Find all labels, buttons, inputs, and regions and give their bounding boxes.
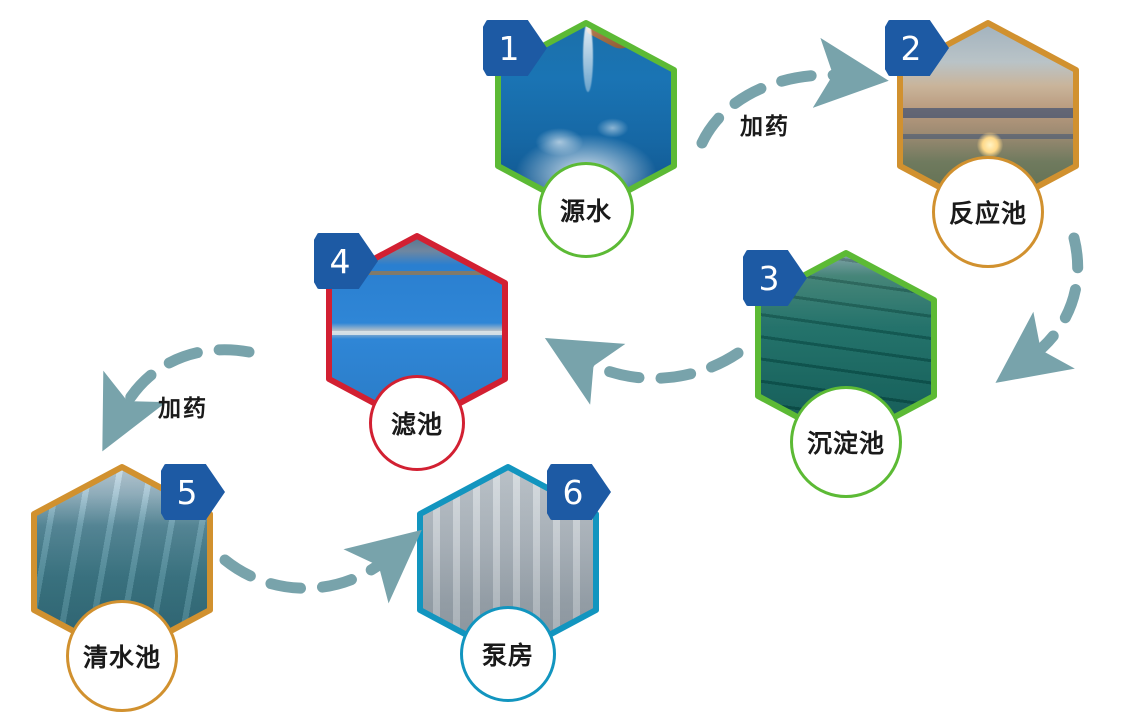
step-5-label-circle[interactable]: 清水池 <box>66 600 178 712</box>
step-2-label-circle[interactable]: 反应池 <box>932 156 1044 268</box>
step-3-number: 3 <box>743 250 795 306</box>
connector-5-to-6 <box>225 558 388 588</box>
step-3-label: 沉淀池 <box>807 424 885 460</box>
step-4-number: 4 <box>314 233 366 289</box>
connector-3-to-4 <box>583 353 738 378</box>
step-3-label-circle[interactable]: 沉淀池 <box>790 386 902 498</box>
connector-2-to-3 <box>1031 238 1078 357</box>
connector-label-dosing-2: 加药 <box>158 389 208 423</box>
step-1-number: 1 <box>483 20 535 76</box>
step-5-label: 清水池 <box>83 638 161 674</box>
step-6-label: 泵房 <box>482 636 534 672</box>
process-flow-diagram: 加药 加药 1 源水 <box>0 0 1130 714</box>
step-3-number-badge: 3 <box>743 250 807 306</box>
step-4-label-circle[interactable]: 滤池 <box>369 375 465 471</box>
step-1-number-badge: 1 <box>483 20 547 76</box>
step-node-5[interactable]: 5 清水池 <box>27 462 217 672</box>
step-6-number: 6 <box>547 464 599 520</box>
step-node-4[interactable]: 4 滤池 <box>322 231 512 441</box>
step-5-number-badge: 5 <box>161 464 225 520</box>
step-2-number: 2 <box>885 20 937 76</box>
step-6-number-badge: 6 <box>547 464 611 520</box>
step-1-label: 源水 <box>560 192 612 228</box>
step-2-label: 反应池 <box>949 194 1027 230</box>
step-4-label: 滤池 <box>391 405 443 441</box>
step-node-2[interactable]: 2 反应池 <box>893 18 1083 228</box>
step-1-label-circle[interactable]: 源水 <box>538 162 634 258</box>
step-node-3[interactable]: 3 沉淀池 <box>751 248 941 458</box>
step-2-number-badge: 2 <box>885 20 949 76</box>
connector-label-dosing-1: 加药 <box>740 107 790 141</box>
step-4-number-badge: 4 <box>314 233 378 289</box>
step-6-label-circle[interactable]: 泵房 <box>460 606 556 702</box>
step-5-number: 5 <box>161 464 213 520</box>
step-node-6[interactable]: 6 泵房 <box>413 462 603 672</box>
step-node-1[interactable]: 1 源水 <box>491 18 681 228</box>
